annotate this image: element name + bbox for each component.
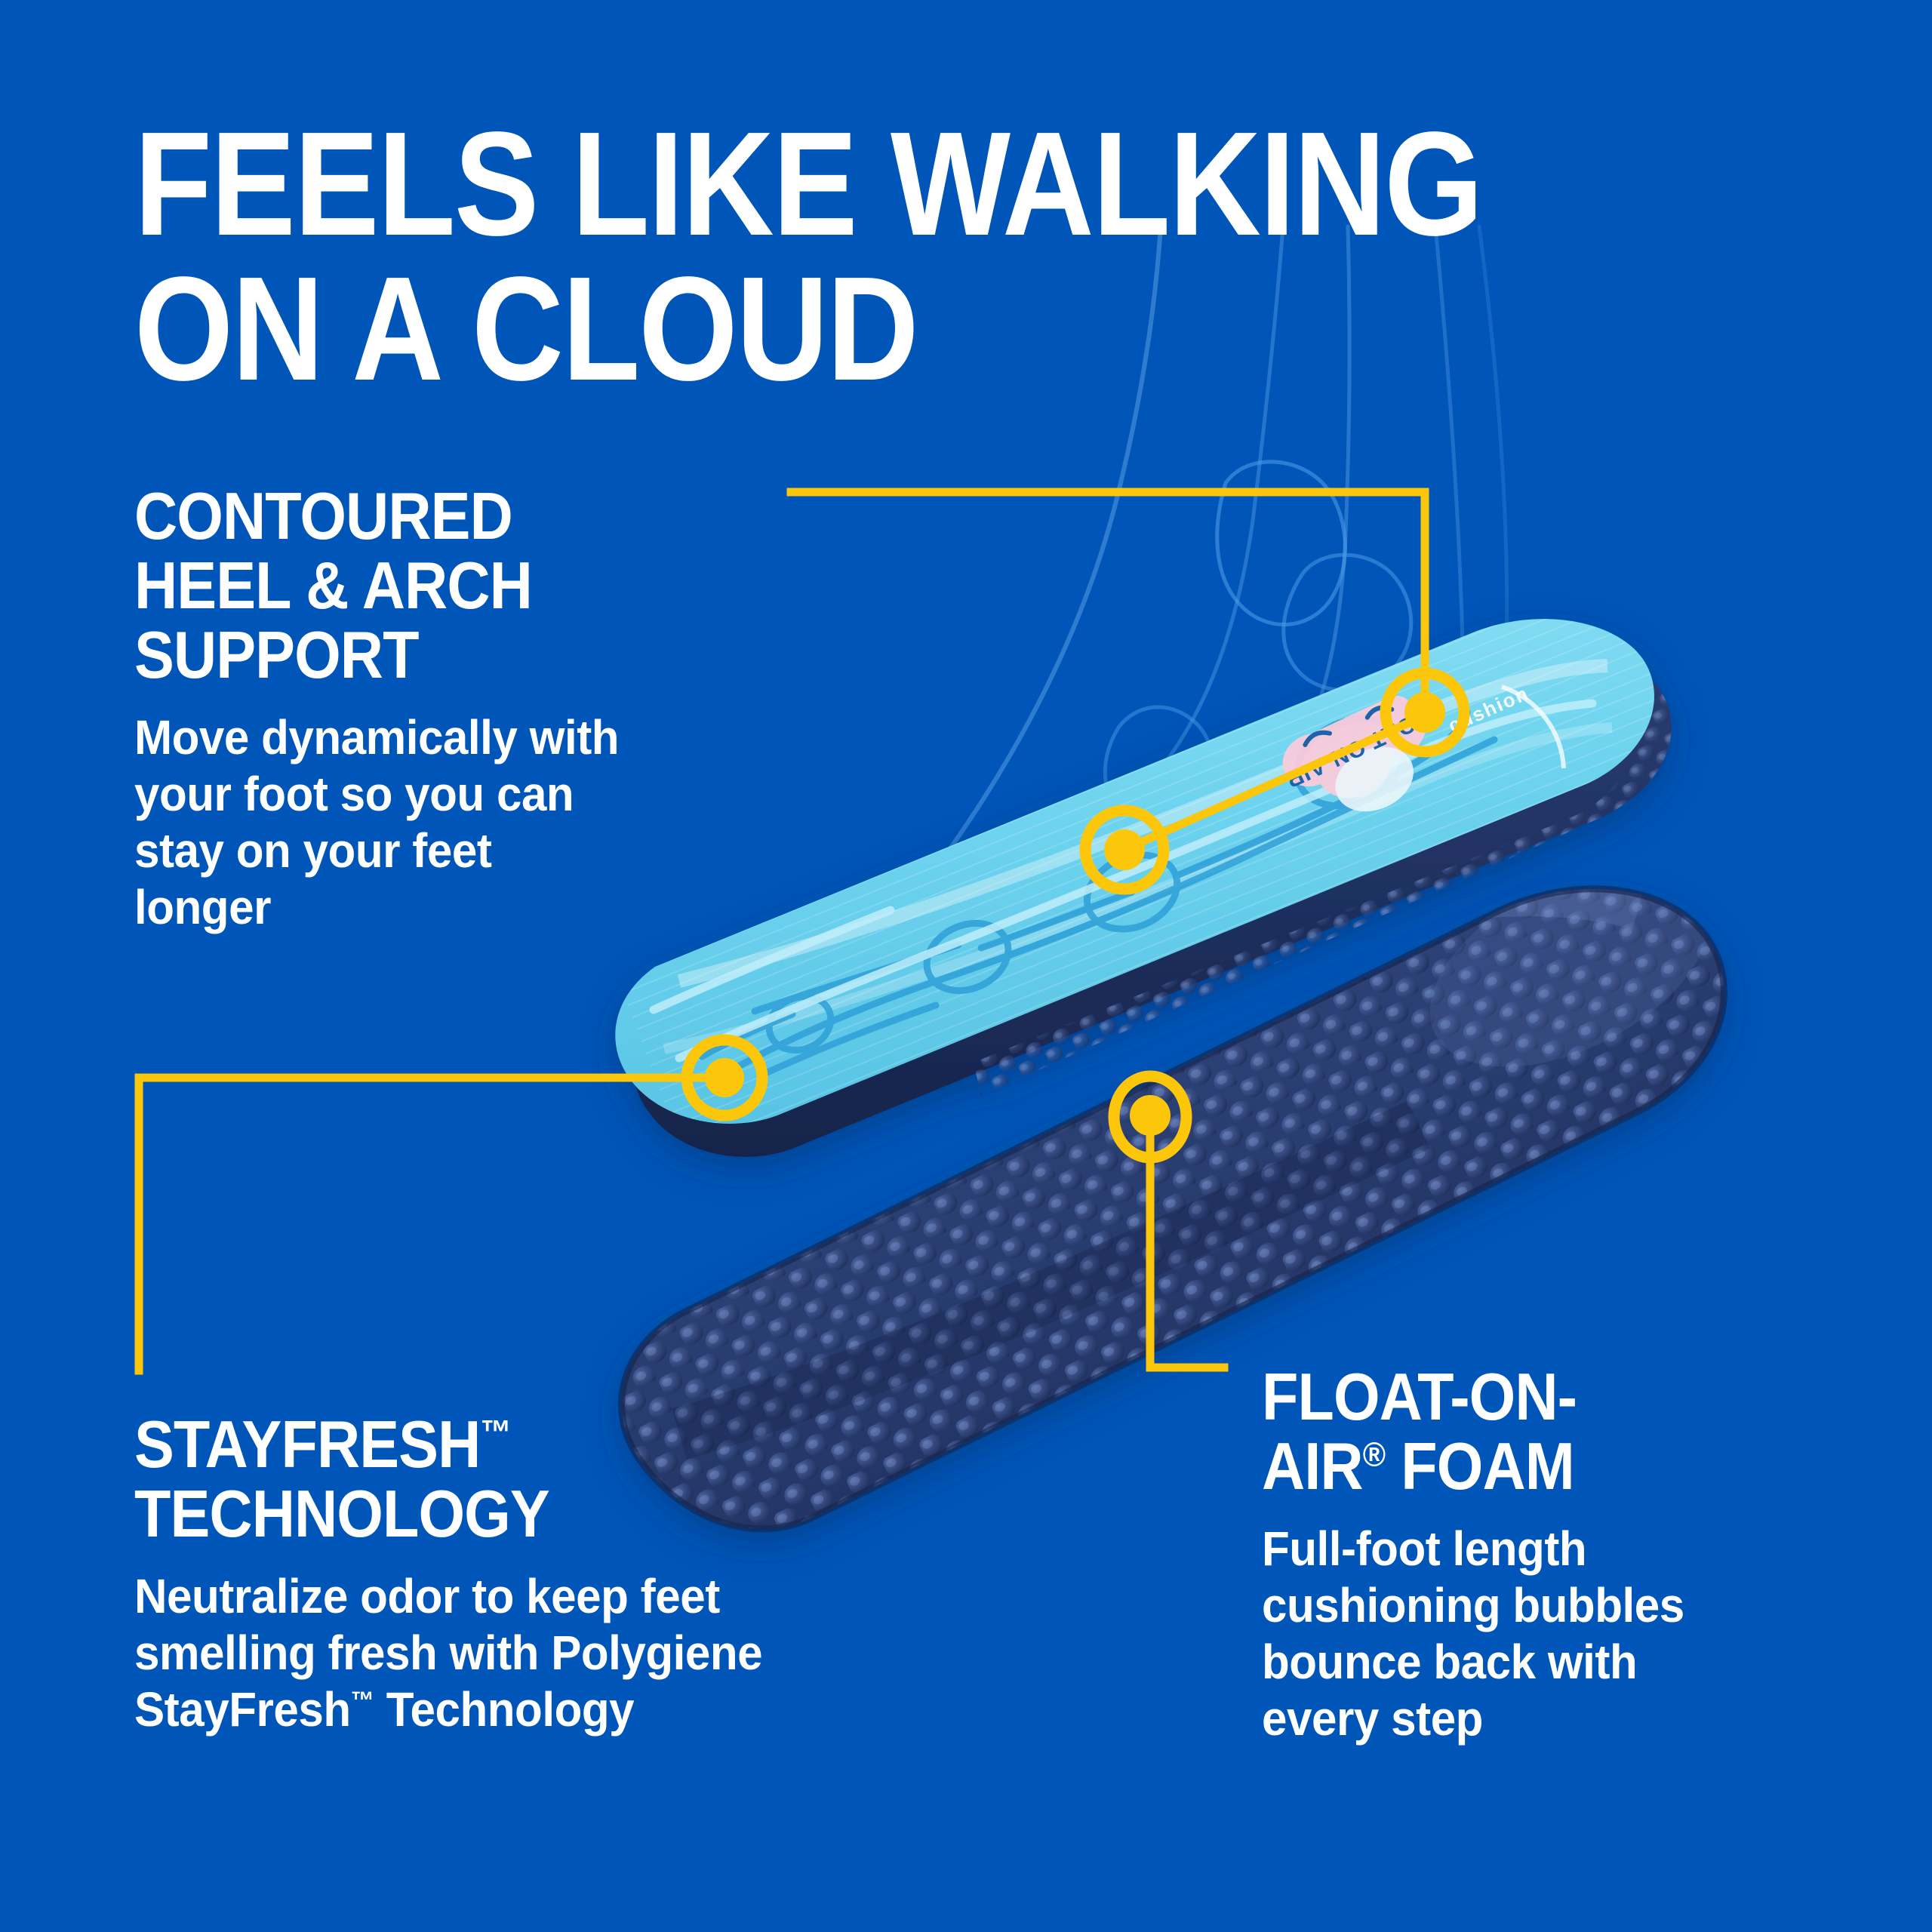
trademark-symbol: ™ xyxy=(480,1414,510,1452)
trademark-symbol: ™ xyxy=(351,1687,374,1715)
feature-stayfresh-technology: STAYFRESH™TECHNOLOGY Neutralize odor to … xyxy=(134,1410,1025,1738)
float-on-word: FLOAT-ON- xyxy=(1262,1359,1577,1434)
feature-body-stayfresh: Neutralize odor to keep feet smelling fr… xyxy=(134,1568,971,1738)
air-word: AIR xyxy=(1262,1429,1363,1503)
feature-body-floatair: Full-foot length cushioning bubbles boun… xyxy=(1262,1521,1823,1747)
registered-symbol: ® xyxy=(1363,1435,1385,1474)
foam-word: FOAM xyxy=(1385,1429,1574,1503)
stayfresh-body-part2: Technology xyxy=(374,1682,634,1737)
feature-contoured-heel-arch-support: CONTOURED HEEL & ARCH SUPPORT Move dynam… xyxy=(134,481,814,936)
feature-float-on-air-foam: FLOAT-ON-AIR® FOAM Full-foot length cush… xyxy=(1262,1362,1858,1747)
feature-body-contoured: Move dynamically with your foot so you c… xyxy=(134,709,773,936)
feature-title-contoured: CONTOURED HEEL & ARCH SUPPORT xyxy=(134,481,746,690)
stayfresh-word: STAYFRESH xyxy=(134,1407,480,1481)
feature-title-stayfresh: STAYFRESH™TECHNOLOGY xyxy=(134,1410,936,1549)
page-headline: FEELS LIKE WALKING ON A CLOUD xyxy=(134,112,1614,401)
technology-word: TECHNOLOGY xyxy=(134,1476,549,1551)
feature-title-floatair: FLOAT-ON-AIR® FOAM xyxy=(1262,1362,1798,1501)
product-infographic: FLOAT-ON-AIR cushion xyxy=(0,0,1932,1932)
